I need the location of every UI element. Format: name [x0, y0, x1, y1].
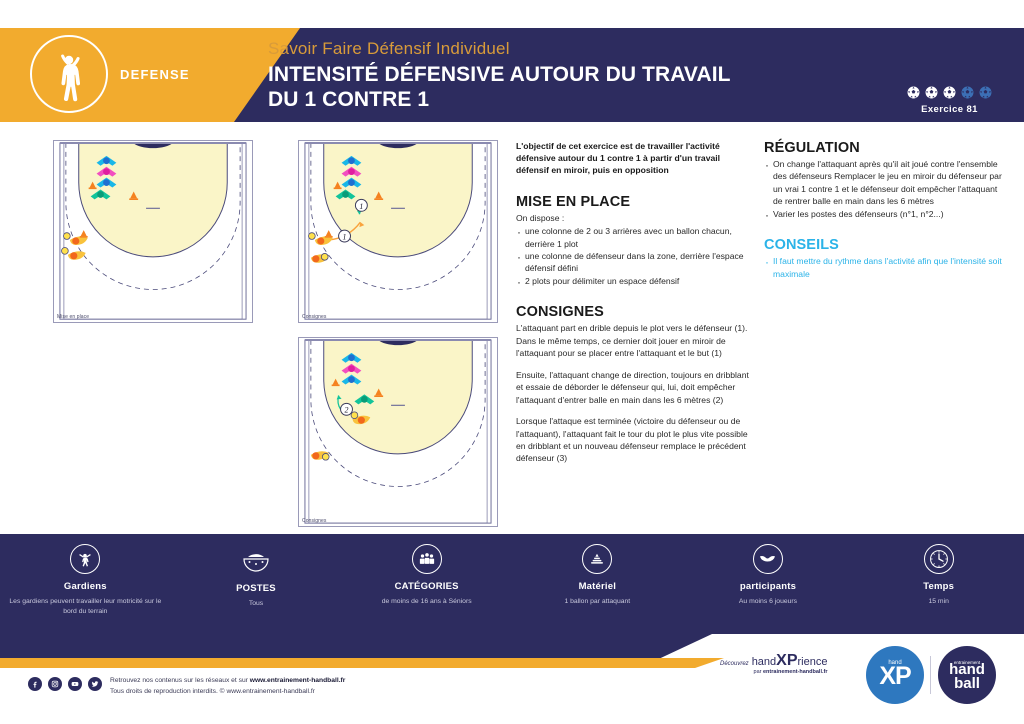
info-cell-materiel: Matériel 1 ballon par attaquant [512, 544, 683, 634]
social-links [28, 677, 102, 691]
category-badge: DEFENSE [30, 35, 190, 113]
conseils-heading: CONSEILS [764, 237, 1008, 253]
category-label: DEFENSE [120, 67, 190, 82]
player-silhouette-icon [49, 46, 89, 102]
participants-glyph [758, 550, 777, 569]
xp-brand-x: X [776, 652, 787, 670]
twitter-icon[interactable] [88, 677, 102, 691]
exercise-number: Exercice 81 [907, 104, 992, 115]
logo-xp-main: XP [879, 662, 910, 691]
list-item: 2 plots pour délimiter un espace défensi… [516, 275, 754, 287]
goalkeeper-icon [70, 544, 100, 574]
info-title: POSTES [236, 583, 276, 594]
diagram-caption: Consignes [302, 314, 327, 320]
list-item: Il faut mettre du rythme dans l'activité… [764, 255, 1008, 280]
info-desc: 15 min [928, 597, 948, 607]
diagram-consignes-2: 2 Consignes [298, 337, 498, 527]
info-bar-grid: Gardiens Les gardiens peuvent travailler… [0, 534, 1024, 634]
info-cell-temps: Temps 15 min [853, 544, 1024, 634]
info-desc: Tous [249, 599, 263, 609]
material-cone-icon [582, 544, 612, 574]
page-footer: Retrouvez nos contenus sur les réseaux e… [0, 668, 1024, 724]
orange-stripe [0, 658, 724, 668]
diagram-caption: Consignes [302, 518, 327, 524]
regulation-list: On change l'attaquant après qu'il ait jo… [764, 158, 1008, 220]
mise-en-place-intro: On dispose : [516, 212, 754, 224]
ball-filled-icon [925, 86, 938, 99]
footer-text: Retrouvez nos contenus sur les réseaux e… [110, 675, 345, 697]
info-desc: 1 ballon par attaquant [564, 597, 630, 607]
info-title: Temps [923, 581, 954, 592]
difficulty-balls [907, 86, 992, 99]
footer-line-1: Retrouvez nos contenus sur les réseaux e… [110, 675, 345, 686]
footer-site-url[interactable]: www.entrainement-handball.fr [250, 677, 346, 684]
svg-text:1: 1 [359, 202, 363, 211]
positions-glyph [241, 544, 271, 574]
info-cell-gardiens: Gardiens Les gardiens peuvent travailler… [0, 544, 171, 634]
info-title: CATÉGORIES [395, 581, 459, 592]
goalkeeper-glyph [76, 550, 94, 568]
diagram-mise-en-place: Mise en place [53, 140, 253, 323]
logo-hb-line2: ball [954, 677, 980, 691]
info-title: Gardiens [64, 581, 107, 592]
court-svg-3: 2 [299, 338, 497, 526]
court-svg-2: 1 1 [299, 141, 497, 322]
info-bar: Gardiens Les gardiens peuvent travailler… [0, 534, 1024, 634]
list-item: Varier les postes des défenseurs (n°1, n… [764, 208, 1008, 220]
info-cell-postes: POSTES Tous [171, 544, 342, 634]
info-desc: de moins de 16 ans à Séniors [382, 597, 472, 607]
mise-en-place-list: une colonne de 2 ou 3 arrières avec un b… [516, 225, 754, 287]
xp-sub-bold: entrainement-handball.fr [763, 669, 827, 675]
right-text-column: RÉGULATION On change l'attaquant après q… [764, 140, 1008, 280]
xp-prefix: Découvrez [720, 661, 749, 667]
footer-line1-prefix: Retrouvez nos contenus sur les réseaux e… [110, 677, 250, 684]
regulation-heading: RÉGULATION [764, 140, 1008, 156]
xp-subline: par entrainement-handball.fr [720, 669, 827, 675]
step-marker-2: 2 [341, 403, 353, 415]
xp-sub-prefix: par [754, 669, 763, 675]
diagram-consignes-1: 1 1 Consignes [298, 140, 498, 323]
ball-filled-icon [943, 86, 956, 99]
footer-line-2: Tous droits de reproduction interdits. ©… [110, 686, 345, 697]
page-title-line2: DU 1 CONTRE 1 [268, 88, 731, 113]
conseils-list: Il faut mettre du rythme dans l'activité… [764, 255, 1008, 280]
objective-text: L'objectif de cet exercice est de travai… [516, 140, 754, 177]
middle-text-column: L'objectif de cet exercice est de travai… [516, 140, 754, 465]
categories-icon [412, 544, 442, 574]
ball-empty-icon [979, 86, 992, 99]
positions-icon [241, 544, 271, 579]
diagram-caption: Mise en place [57, 314, 89, 320]
court-svg-1 [54, 141, 252, 322]
svg-text:2: 2 [345, 406, 349, 415]
page-title: INTENSITÉ DÉFENSIVE AUTOUR DU TRAVAIL DU… [268, 63, 731, 113]
page-header: DEFENSE Savoir Faire Défensif Individuel… [0, 28, 1024, 122]
info-cell-participants: participants Au moins 6 joueurs [683, 544, 854, 634]
difficulty-block: Exercice 81 [907, 86, 992, 115]
youtube-icon[interactable] [68, 677, 82, 691]
handxperience-wordmark: Découvrez hand X P rience par entraineme… [720, 652, 827, 675]
consignes-paragraph: Ensuite, l'attaquant change de direction… [516, 369, 754, 406]
logo-handxp: hand XP [866, 646, 924, 704]
page-title-line1: INTENSITÉ DÉFENSIVE AUTOUR DU TRAVAIL [268, 63, 731, 88]
logo-handball: entrainement hand ball [938, 646, 996, 704]
ball-filled-icon [907, 86, 920, 99]
logo-divider [930, 656, 931, 694]
header-title-block: Savoir Faire Défensif Individuel INTENSI… [268, 38, 731, 112]
categories-glyph [418, 550, 436, 568]
list-item: une colonne de défenseur dans la zone, d… [516, 250, 754, 275]
participants-icon [753, 544, 783, 574]
exercise-sheet: DEFENSE Savoir Faire Défensif Individuel… [0, 0, 1024, 724]
list-item: une colonne de 2 ou 3 arrières avec un b… [516, 225, 754, 250]
cone-glyph [588, 550, 606, 568]
consignes-paragraph: Lorsque l'attaque est terminée (victoire… [516, 415, 754, 465]
clock-glyph [928, 548, 950, 570]
info-cell-categories: CATÉGORIES de moins de 16 ans à Séniors [341, 544, 512, 634]
xp-brand-hand: hand [752, 656, 776, 668]
instagram-icon[interactable] [48, 677, 62, 691]
info-desc: Les gardiens peuvent travailler leur mot… [8, 597, 163, 617]
xp-brand-rest: rience [798, 656, 828, 668]
consignes-paragraph: L'attaquant part en drible depuis le plo… [516, 322, 754, 359]
facebook-icon[interactable] [28, 677, 42, 691]
info-title: participants [740, 581, 796, 592]
defense-player-icon [30, 35, 108, 113]
mise-en-place-heading: MISE EN PLACE [516, 194, 754, 210]
list-item: On change l'attaquant après qu'il ait jo… [764, 158, 1008, 208]
ball-empty-icon [961, 86, 974, 99]
xp-brand-p: P [787, 652, 798, 670]
consignes-heading: CONSIGNES [516, 304, 754, 320]
svg-text:1: 1 [343, 232, 347, 241]
step-marker-1: 1 [355, 199, 367, 211]
step-marker-1: 1 [339, 230, 351, 242]
header-supertitle: Savoir Faire Défensif Individuel [268, 38, 731, 61]
clock-icon [924, 544, 954, 574]
info-desc: Au moins 6 joueurs [739, 597, 797, 607]
info-title: Matériel [579, 581, 617, 592]
